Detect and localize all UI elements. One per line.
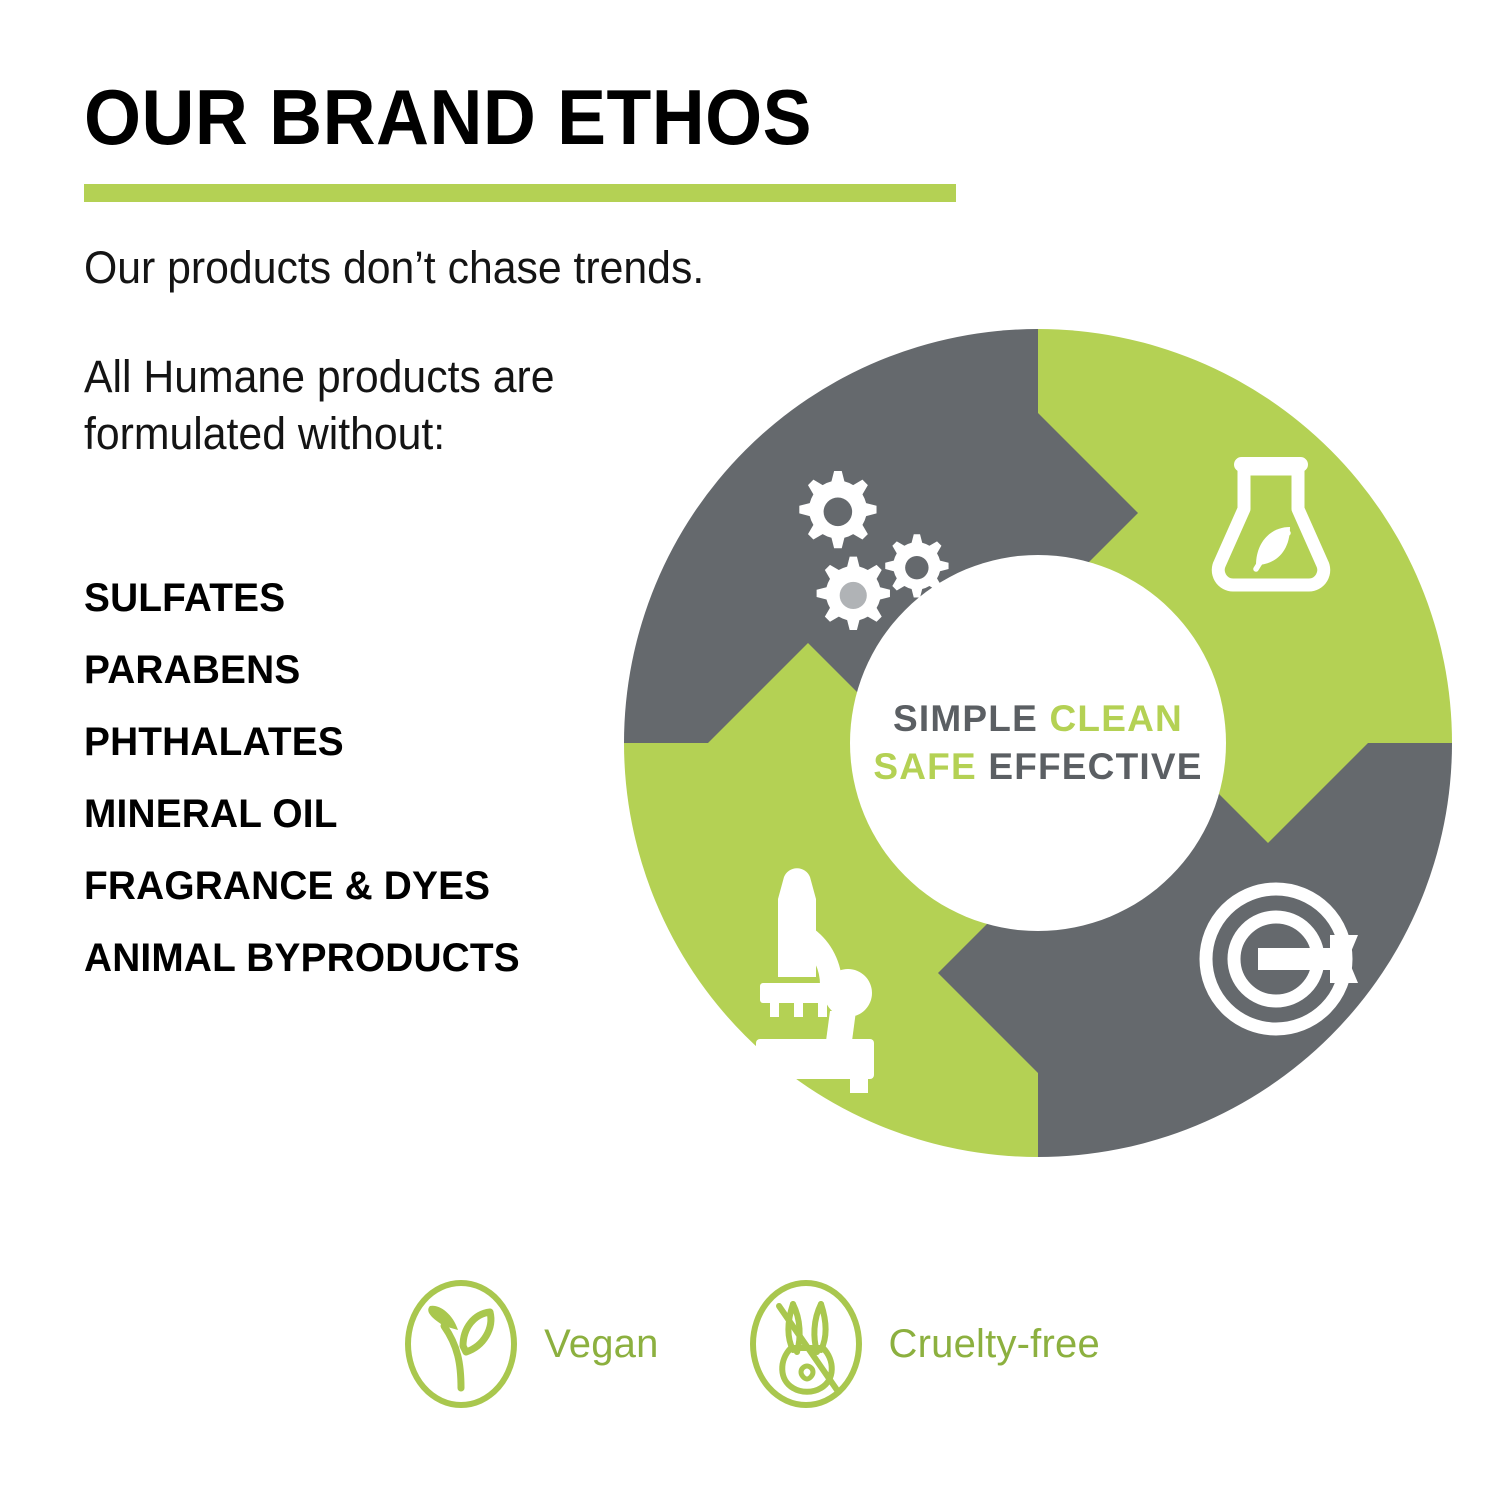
list-item: ANIMAL BYPRODUCTS	[84, 938, 705, 978]
badge-cruelty-free: Cruelty-free	[745, 1276, 1100, 1412]
cruelty-free-rabbit-icon	[745, 1276, 867, 1412]
page-title: OUR BRAND ETHOS	[84, 78, 667, 156]
list-item: FRAGRANCE & DYES	[84, 866, 705, 906]
vegan-sprout-icon	[400, 1276, 522, 1412]
lead-line-1: All Humane products are	[84, 348, 692, 406]
left-content-column: OUR BRAND ETHOS Our products don’t chase…	[84, 78, 704, 463]
cycle-donut-svg	[618, 323, 1458, 1163]
list-item: PHTHALATES	[84, 722, 705, 762]
list-item: SULFATES	[84, 578, 705, 618]
badge-vegan: Vegan	[400, 1276, 658, 1412]
badge-label-cruelty-free: Cruelty-free	[889, 1322, 1100, 1367]
brand-values-cycle-diagram: SIMPLE CLEAN SAFE EFFECTIVE	[618, 323, 1458, 1163]
infographic-page: OUR BRAND ETHOS Our products don’t chase…	[0, 0, 1500, 1500]
tagline-text: Our products don’t chase trends.	[84, 242, 673, 294]
badge-label-vegan: Vegan	[544, 1322, 658, 1367]
list-item: PARABENS	[84, 650, 705, 690]
title-accent-rule	[84, 184, 956, 202]
list-item: MINERAL OIL	[84, 794, 705, 834]
lead-line-2: formulated without:	[84, 405, 692, 463]
lead-paragraph: All Humane products are formulated witho…	[84, 348, 692, 463]
certification-badges: Vegan Cruelty-free	[0, 1276, 1500, 1412]
